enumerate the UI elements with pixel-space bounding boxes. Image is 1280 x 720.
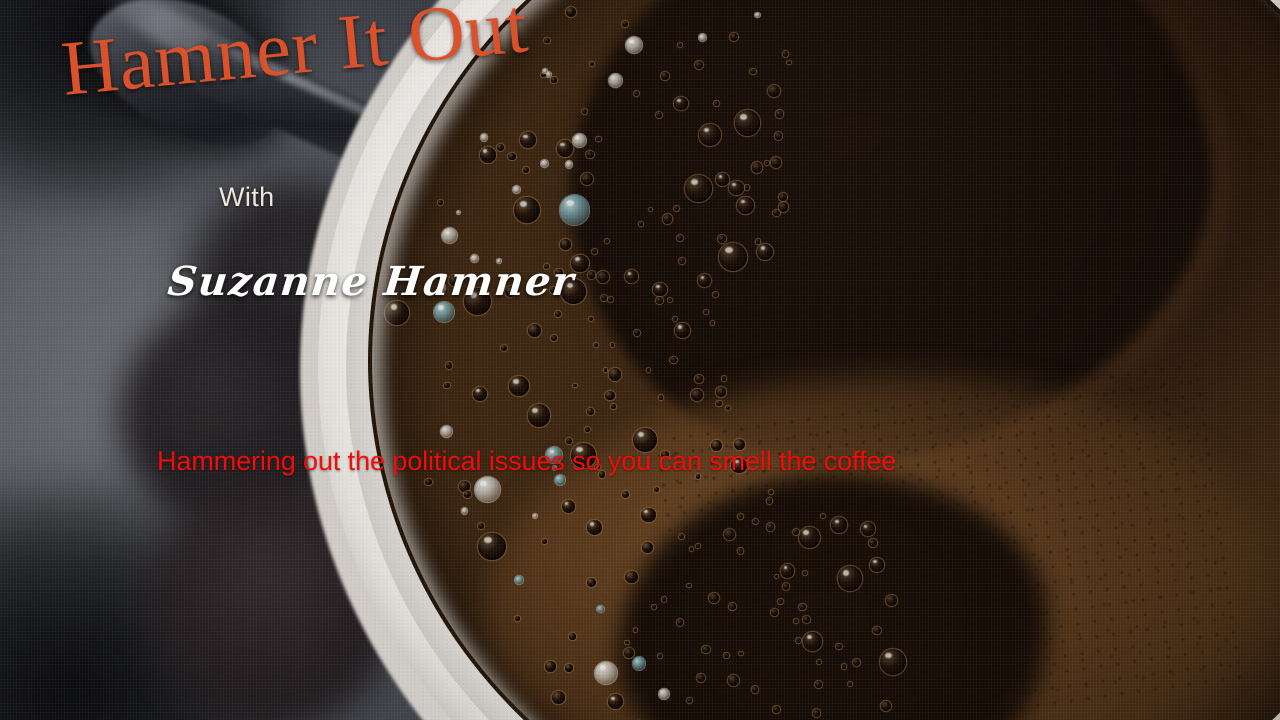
coffee-bubble: [842, 664, 847, 669]
coffee-bubble: [501, 345, 507, 351]
coffee-bubble: [611, 404, 616, 409]
coffee-bubble: [625, 571, 638, 584]
coffee-bubble: [711, 321, 715, 325]
coffee-bubble: [803, 616, 810, 623]
coffee-bubble: [586, 151, 594, 159]
coffee-bubble: [724, 653, 729, 658]
coffee-bubble: [753, 519, 758, 524]
coffee-bubble: [869, 539, 877, 547]
coffee-bubble: [641, 508, 656, 523]
coffee-bubble: [677, 235, 683, 241]
coffee-bubble: [674, 97, 688, 111]
coffee-bubble: [622, 491, 629, 498]
coffee-bubble: [478, 523, 484, 529]
coffee-bubble: [714, 101, 719, 106]
coffee-bubble: [779, 193, 787, 201]
coffee-bubble: [817, 660, 821, 664]
coffee-bubble: [497, 144, 504, 151]
coffee-bubble: [679, 534, 684, 539]
coffee-bubble: [478, 533, 506, 561]
coffee-bubble: [441, 426, 452, 437]
coffee-bubble: [716, 387, 726, 397]
coffee-bubble: [757, 244, 773, 260]
coffee-bubble: [515, 616, 520, 621]
coffee-bubble: [569, 633, 576, 640]
coffee-bubble: [658, 654, 662, 658]
coffee-bubble: [566, 161, 573, 168]
coffee-bubble: [886, 595, 897, 606]
coffee-bubble: [566, 7, 576, 17]
coffee-bubble: [541, 73, 546, 78]
coffee-bubble: [771, 609, 778, 616]
coffee-bubble: [674, 206, 679, 211]
coffee-bubble: [459, 481, 470, 492]
coffee-bubble: [622, 21, 628, 27]
coffee-bubble: [776, 110, 784, 118]
podcast-title-card: Hamner It Out With Suzanne Hamner Hammer…: [0, 0, 1280, 720]
coffee-bubble: [719, 243, 747, 271]
coffee-bubble: [633, 657, 645, 669]
bubble-cluster: [368, 0, 1280, 720]
coffee-bubble: [873, 627, 881, 635]
coffee-bubble: [704, 310, 708, 314]
coffee-bubble: [690, 547, 694, 551]
coffee-bubble: [605, 391, 615, 401]
coffee-bubble: [634, 91, 639, 96]
coffee-bubble: [880, 649, 906, 675]
coffee-bubble: [566, 438, 572, 444]
coffee-bubble: [713, 292, 718, 297]
coffee-bubble: [787, 61, 791, 65]
coffee-bubble: [793, 529, 799, 535]
coffee-bubble: [691, 389, 704, 402]
coffee-bubble: [836, 644, 842, 650]
coffee-bubble: [625, 641, 629, 645]
coffee-bubble: [597, 606, 604, 613]
coffee-bubble: [634, 628, 638, 632]
coffee-bubble: [752, 162, 763, 173]
coffee-bubble: [756, 239, 760, 243]
coffee-bubble: [541, 160, 548, 167]
coffee-bubble: [775, 132, 783, 140]
coffee-bubble: [848, 682, 852, 686]
coffee-bubble: [738, 548, 744, 554]
coffee-bubble: [652, 605, 656, 609]
coffee-bubble: [544, 38, 550, 44]
coffee-bubble: [821, 514, 825, 518]
coffee-bubble: [716, 173, 730, 187]
coffee-bubble: [735, 110, 761, 136]
coffee-bubble: [729, 181, 744, 196]
coffee-bubble: [475, 477, 500, 502]
coffee-bubble: [595, 662, 617, 684]
coffee-bubble: [473, 387, 487, 401]
coffee-bubble: [587, 408, 594, 415]
coffee-bubble: [509, 376, 529, 396]
coffee-bubble: [573, 134, 586, 147]
coffee-bubble: [611, 343, 615, 347]
coffee-bubble: [656, 297, 663, 304]
coffee-bubble: [581, 173, 593, 185]
coffee-bubble: [815, 681, 822, 688]
coffee-bubble: [590, 62, 594, 66]
coffee-bubble: [663, 214, 672, 223]
coffee-bubble: [783, 583, 790, 590]
coffee-bubble: [803, 632, 822, 651]
coffee-bubble: [861, 522, 875, 536]
coffee-bubble: [523, 167, 529, 173]
coffee-bubble: [831, 517, 847, 533]
coffee-bubble: [604, 368, 607, 371]
coffee-bubble: [778, 599, 783, 604]
coffee-bubble: [588, 271, 596, 279]
coffee-bubble: [695, 375, 703, 383]
coffee-bubble: [642, 542, 654, 554]
coffee-bubble: [870, 558, 884, 572]
coffee-bubble: [639, 222, 643, 226]
coffee-bubble: [678, 43, 682, 47]
coffee-bubble: [442, 228, 457, 243]
coffee-bubble: [659, 689, 669, 699]
coffee-bubble: [565, 664, 573, 672]
coffee-bubble: [596, 137, 600, 141]
coffee-bubble: [716, 401, 722, 407]
coffee-bubble: [480, 147, 496, 163]
coffee-bubble: [745, 185, 750, 190]
coffee-bubble: [508, 153, 515, 160]
coffee-bubble: [653, 283, 667, 297]
coffee-bubble: [597, 271, 609, 283]
coffee-bubble: [589, 317, 593, 321]
coffee-bubble: [813, 709, 820, 716]
coffee-bubble: [768, 85, 780, 97]
coffee-bubble: [624, 648, 634, 658]
coffee-bubble: [729, 603, 736, 610]
coffee-bubble: [738, 514, 743, 519]
host-name: Suzanne Hamner: [166, 258, 578, 305]
coffee-bubble: [425, 479, 432, 486]
coffee-bubble: [464, 491, 471, 498]
coffee-bubble: [573, 384, 576, 387]
coffee-bubble: [609, 74, 622, 87]
coffee-bubble: [608, 694, 623, 709]
coffee-bubble: [528, 324, 541, 337]
coffee-bubble: [673, 317, 677, 321]
coffee-bubble: [794, 619, 798, 623]
coffee-bubble: [560, 195, 590, 225]
coffee-bubble: [838, 566, 862, 590]
coffee-bubble: [752, 686, 759, 693]
coffee-bubble: [520, 132, 536, 148]
coffee-bubble: [675, 323, 690, 338]
coffee-bubble: [718, 235, 726, 243]
coffee-bubble: [649, 208, 652, 211]
coffee-bubble: [546, 72, 551, 77]
coffee-bubble: [634, 330, 640, 336]
coffee-bubble: [625, 270, 638, 283]
coffee-bubble: [881, 701, 891, 711]
coffee-bubble: [769, 490, 774, 495]
coffee-liquid: [368, 0, 1280, 720]
coffee-bubble: [457, 211, 460, 214]
coffee-bubble: [609, 368, 622, 381]
coffee-bubble: [514, 197, 540, 223]
coffee-bubble: [699, 124, 721, 146]
coffee-bubble: [668, 298, 672, 302]
coffee-bubble: [444, 383, 449, 388]
coffee-bubble: [799, 604, 806, 611]
coffee-bubble: [662, 597, 666, 601]
coffee-bubble: [551, 77, 556, 82]
coffee-bubble: [659, 395, 664, 400]
coffee-bubble: [545, 661, 556, 672]
coffee-bubble: [594, 343, 598, 347]
coffee-bubble: [543, 69, 547, 73]
coffee-bubble: [481, 134, 488, 141]
coffee-bubble: [775, 575, 779, 579]
coffee-bubble: [702, 646, 710, 654]
coffee-bubble: [462, 508, 467, 513]
coffee-bubble: [551, 335, 557, 341]
coffee-bubble: [765, 161, 769, 165]
coffee-bubble: [533, 514, 537, 518]
coffee-bubble: [779, 202, 788, 211]
coffee-bubble: [687, 698, 692, 703]
coffee-bubble: [730, 33, 738, 41]
coffee-bubble: [699, 34, 706, 41]
coffee-bubble: [679, 258, 686, 265]
coffee-bubble: [608, 297, 613, 302]
coffee-bubble: [767, 523, 774, 530]
coffee-bubble: [695, 61, 703, 69]
coffee-bubble: [656, 112, 662, 118]
coffee-bubble: [724, 529, 735, 540]
coffee-bubble: [767, 498, 772, 503]
coffee-bubble: [771, 157, 782, 168]
coffee-bubble: [446, 362, 453, 369]
coffee-bubble: [677, 619, 683, 625]
coffee-bubble: [592, 249, 597, 254]
coffee-bubble: [728, 675, 739, 686]
coffee-bubble: [687, 584, 691, 588]
coffee-bubble: [685, 175, 712, 202]
coffee-bubble: [750, 69, 756, 75]
coffee-bubble: [709, 593, 719, 603]
coffee-bubble: [542, 539, 547, 544]
coffee-bubble: [796, 638, 801, 643]
coffee-bubble: [783, 51, 789, 57]
coffee-bubble: [626, 37, 642, 53]
coffee-bubble: [661, 72, 669, 80]
coffee-bubble: [587, 578, 596, 587]
tagline: Hammering out the political issues so yo…: [157, 446, 896, 477]
coffee-bubble: [726, 406, 730, 410]
coffee-bubble: [601, 295, 607, 301]
coffee-bubble: [562, 500, 575, 513]
coffee-bubble: [722, 376, 727, 381]
coffee-bubble: [781, 564, 795, 578]
coffee-bubble: [773, 210, 780, 217]
coffee-bubble: [585, 427, 590, 432]
coffee-bubble: [515, 576, 522, 583]
coffee-bubble: [557, 140, 574, 157]
coffee-bubble: [582, 109, 587, 114]
coffee-bubble: [697, 674, 705, 682]
coffee-bubble: [853, 659, 860, 666]
coffee-bubble: [605, 239, 609, 243]
coffee-bubble: [799, 527, 820, 548]
coffee-bubble: [670, 357, 677, 364]
coffee-bubble: [654, 487, 659, 492]
coffee-bubble: [528, 404, 550, 426]
coffee-bubble: [698, 274, 711, 287]
coffee-bubble: [560, 239, 571, 250]
coffee-bubble: [803, 571, 807, 575]
coffee-bubble: [513, 186, 520, 193]
coffee-cup-photo: [0, 0, 1280, 720]
coffee-bubble: [587, 520, 603, 536]
coffee-bubble: [737, 197, 754, 214]
coffee-bubble: [552, 691, 565, 704]
coffee-bubble: [647, 368, 651, 372]
coffee-bubble: [555, 311, 561, 317]
coffee-bubble: [773, 706, 780, 713]
coffee-bubble: [739, 652, 743, 656]
coffee-bubble: [438, 200, 443, 205]
with-label: With: [219, 182, 275, 213]
coffee-bubble: [755, 13, 760, 18]
coffee-bubble: [696, 544, 700, 548]
